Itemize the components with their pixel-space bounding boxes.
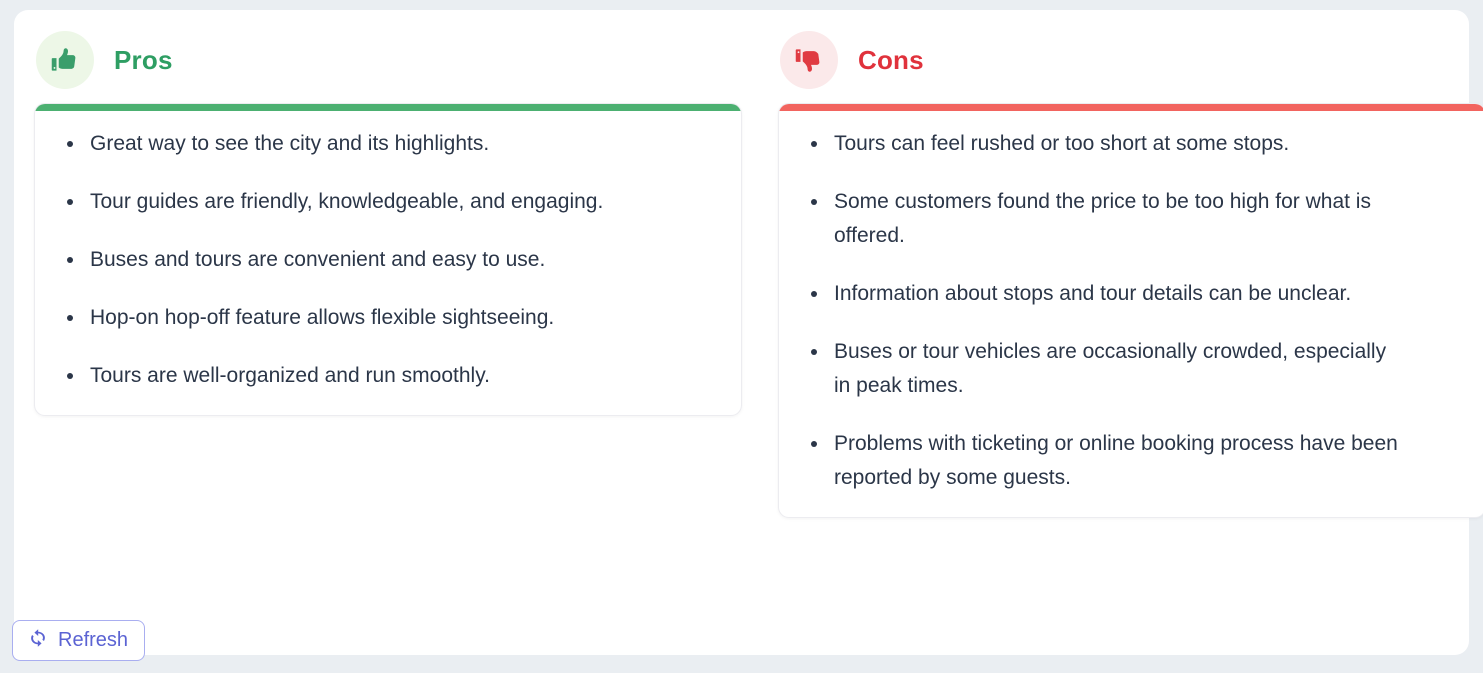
list-item: Buses and tours are convenient and easy …	[61, 243, 661, 277]
pros-title: Pros	[114, 45, 173, 76]
pros-header: Pros	[34, 28, 742, 92]
pros-list: Great way to see the city and its highli…	[61, 127, 715, 393]
cons-header: Cons	[778, 28, 1483, 92]
list-item: Hop-on hop-off feature allows flexible s…	[61, 301, 661, 335]
cons-column: Cons Tours can feel rushed or too short …	[778, 28, 1483, 518]
cons-title: Cons	[858, 45, 924, 76]
pros-card: Great way to see the city and its highli…	[34, 103, 742, 416]
cons-list: Tours can feel rushed or too short at so…	[805, 127, 1459, 495]
refresh-button[interactable]: Refresh	[12, 620, 145, 661]
pros-card-body: Great way to see the city and its highli…	[35, 111, 741, 415]
pros-accent-bar	[35, 104, 741, 111]
pros-cons-columns: Pros Great way to see the city and its h…	[14, 10, 1469, 518]
list-item: Some customers found the price to be too…	[805, 185, 1405, 253]
list-item: Tours can feel rushed or too short at so…	[805, 127, 1405, 161]
list-item: Great way to see the city and its highli…	[61, 127, 661, 161]
cons-card-body: Tours can feel rushed or too short at so…	[779, 111, 1483, 517]
list-item: Buses or tour vehicles are occasionally …	[805, 335, 1405, 403]
pros-column: Pros Great way to see the city and its h…	[34, 28, 742, 518]
list-item: Problems with ticketing or online bookin…	[805, 427, 1405, 495]
list-item: Tours are well-organized and run smoothl…	[61, 359, 661, 393]
content-surface: Pros Great way to see the city and its h…	[14, 10, 1469, 655]
cons-accent-bar	[779, 104, 1483, 111]
thumbs-down-icon	[780, 31, 838, 89]
refresh-icon	[27, 627, 49, 655]
list-item: Information about stops and tour details…	[805, 277, 1405, 311]
cons-card: Tours can feel rushed or too short at so…	[778, 103, 1483, 518]
refresh-button-label: Refresh	[58, 629, 128, 652]
thumbs-up-icon	[36, 31, 94, 89]
list-item: Tour guides are friendly, knowledgeable,…	[61, 185, 661, 219]
